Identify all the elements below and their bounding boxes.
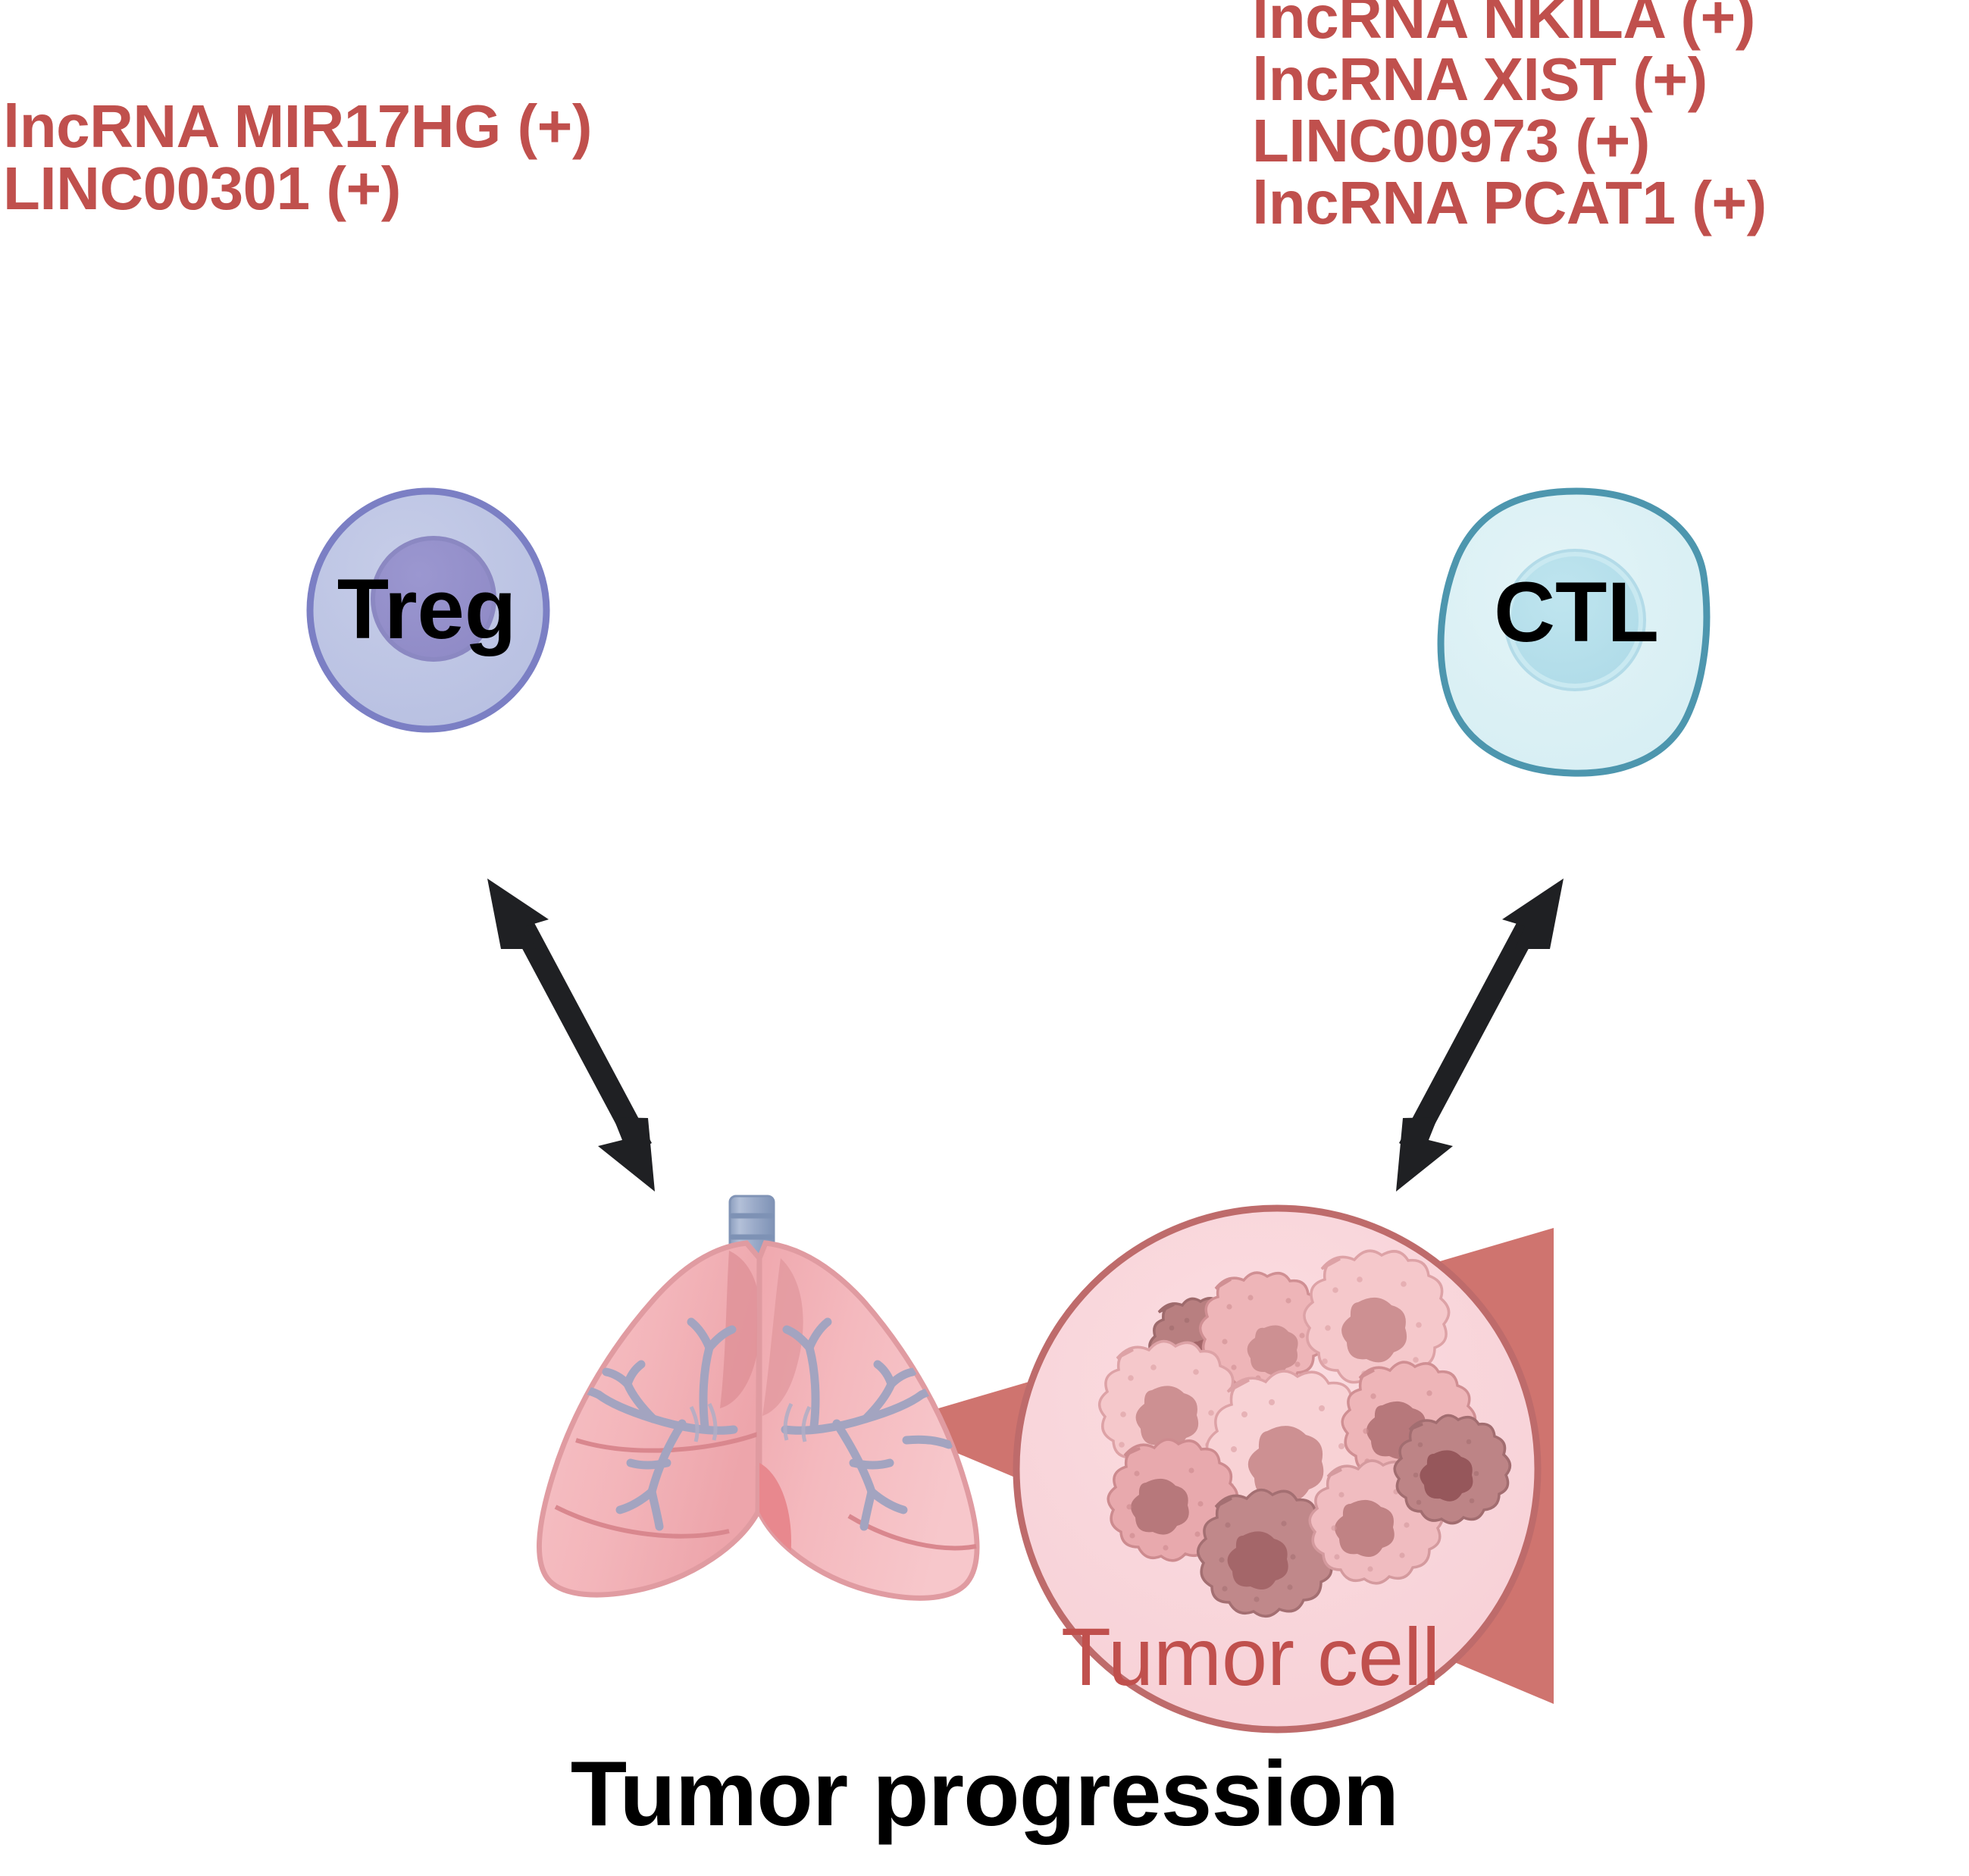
tumor-cell-label: Tumor cell (1061, 1616, 1485, 1698)
figure-title-tumor-progression: Tumor progression (0, 1747, 1969, 1840)
treg-tumor-bidirectional-arrow (487, 878, 655, 1192)
diagram-artwork (0, 0, 1969, 1876)
tumor-cell-item (1395, 1415, 1510, 1523)
figure-canvas: lncRNA MIR17HG (+) LINC00301 (+) lncRNA … (0, 0, 1969, 1876)
ctl-tumor-bidirectional-arrow (1396, 878, 1564, 1192)
lung-left (540, 1243, 761, 1595)
treg-cell-label: Treg (313, 567, 540, 652)
lung-illustration (540, 1196, 978, 1598)
ctl-cell-label: CTL (1463, 570, 1690, 655)
lung-right (759, 1243, 977, 1598)
tumor-cell-item (1198, 1490, 1335, 1617)
